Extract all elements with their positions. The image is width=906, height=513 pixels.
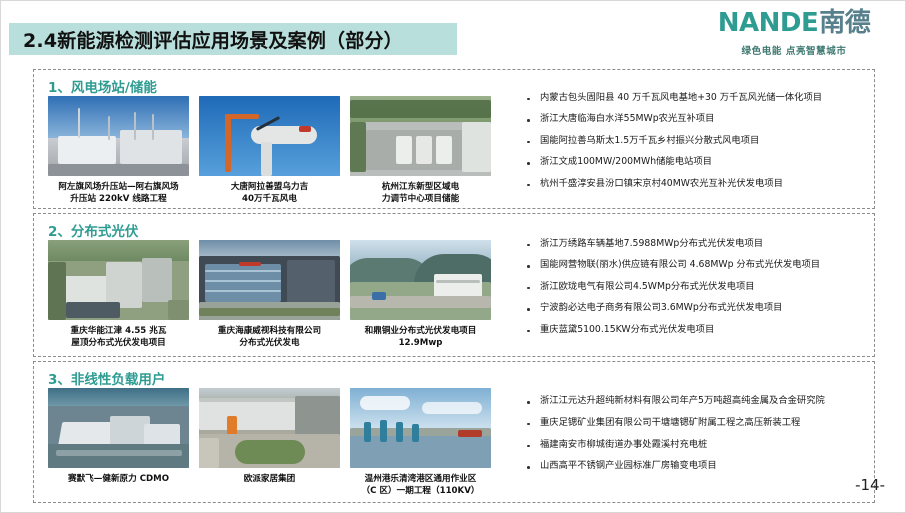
project-card[interactable]: 杭州江东新型区域电 力调节中心项目储能 [350, 96, 491, 206]
card-caption: 重庆海康威视科技有限公司 分布式光伏发电 [199, 325, 340, 350]
aerial-campus-photo [48, 388, 189, 468]
card-row: 重庆华能江津 4.55 兆瓦 屋顶分布式光伏发电项目 重庆海康威视科技有限公司 … [48, 240, 493, 350]
bullet-item: 国能网营物联(丽水)供应链有限公司 4.68MWp 分布式光伏发电项目 [524, 259, 864, 272]
bullet-item: 福建南安市柳城街道办事处霞溪村充电桩 [524, 439, 864, 452]
wind-turbine-photo [199, 96, 340, 176]
section-distributed-pv: 2、分布式光伏 重庆华能江津 4.55 兆瓦 屋顶分布式光伏发电项目 [33, 213, 875, 357]
bullet-list: 内蒙古包头固阳县 40 万千瓦风电基地+30 万千瓦风光储一体化项目 浙江大唐临… [512, 78, 864, 204]
card-caption: 杭州江东新型区域电 力调节中心项目储能 [350, 181, 491, 206]
bullet-item: 浙江欧珑电气有限公司4.5WMp分布式光伏发电项目 [524, 281, 864, 294]
project-card[interactable]: 欧派家居集团 [199, 388, 340, 498]
page-title: 2.4新能源检测评估应用场景及案例（部分） [23, 26, 403, 53]
card-caption: 赛默飞—健新原力 CDMO [48, 473, 189, 485]
section-heading: 2、分布式光伏 [48, 220, 138, 240]
aerial-energy-storage-photo [350, 96, 491, 176]
company-logo: NANDE南德 绿色电能 点亮智慧城市 [699, 10, 889, 57]
project-card[interactable]: 温州港乐清湾港区通用作业区 （C 区）一期工程（110KV） [350, 388, 491, 498]
card-caption: 欧派家居集团 [199, 473, 340, 485]
bullet-item: 杭州千盛淳安县汾口镇宋京村40MW农光互补光伏发电项目 [524, 178, 864, 191]
logo-tagline: 绿色电能 点亮智慧城市 [699, 43, 889, 57]
page-number: -14- [855, 476, 885, 494]
bullet-item: 国能阿拉善乌斯太1.5万千瓦乡村振兴分散式风电项目 [524, 135, 864, 148]
bullet-item: 山西高平不锈钢产业园标准厂房输变电项目 [524, 460, 864, 473]
bullet-item: 重庆蓝黛5100.15KW分布式光伏发电项目 [524, 324, 864, 337]
section-wind-storage: 1、风电场站/储能 阿左旗风场升压站—阿右旗风场 升压站 220kV 线路工程 [33, 69, 875, 209]
bullet-item: 浙江大唐临海白水洋55MWp农光互补项目 [524, 113, 864, 126]
office-building-photo [199, 240, 340, 320]
bullet-item: 浙江江元达升超纯新材料有限公司年产5万吨超高纯金属及合金研究院 [524, 395, 864, 408]
logo-wordmark: NANDE南德 [699, 10, 889, 36]
section-heading: 3、非线性负载用户 [48, 368, 165, 388]
bullet-list: 浙江万绣路车辆基地7.5988MWp分布式光伏发电项目 国能网营物联(丽水)供应… [512, 222, 864, 352]
project-card[interactable]: 阿左旗风场升压站—阿右旗风场 升压站 220kV 线路工程 [48, 96, 189, 206]
port-terminal-photo [350, 388, 491, 468]
card-caption: 和鼎铜业分布式光伏发电项目 12.9Mwp [350, 325, 491, 350]
section-nonlinear-load-users: 3、非线性负载用户 赛默飞—健新原力 CDMO [33, 361, 875, 503]
section-heading: 1、风电场站/储能 [48, 76, 157, 96]
project-card[interactable]: 和鼎铜业分布式光伏发电项目 12.9Mwp [350, 240, 491, 350]
card-caption: 重庆华能江津 4.55 兆瓦 屋顶分布式光伏发电项目 [48, 325, 189, 350]
bullet-list: 浙江江元达升超纯新材料有限公司年产5万吨超高纯金属及合金研究院 重庆足锶矿业集团… [512, 370, 864, 498]
card-row: 赛默飞—健新原力 CDMO 欧派家居集团 [48, 388, 493, 498]
project-card[interactable]: 重庆海康威视科技有限公司 分布式光伏发电 [199, 240, 340, 350]
bullet-item: 内蒙古包头固阳县 40 万千瓦风电基地+30 万千瓦风光储一体化项目 [524, 92, 864, 105]
project-card[interactable]: 重庆华能江津 4.55 兆瓦 屋顶分布式光伏发电项目 [48, 240, 189, 350]
card-row: 阿左旗风场升压站—阿右旗风场 升压站 220kV 线路工程 大唐阿拉善盟乌力吉 … [48, 96, 493, 206]
bullet-item: 重庆足锶矿业集团有限公司干塘塘锶矿附属工程之高压新装工程 [524, 417, 864, 430]
bullet-item: 浙江万绣路车辆基地7.5988MWp分布式光伏发电项目 [524, 238, 864, 251]
card-caption: 大唐阿拉善盟乌力吉 40万千瓦风电 [199, 181, 340, 206]
aerial-factory-photo [199, 388, 340, 468]
slide-header: 2.4新能源检测评估应用场景及案例（部分） NANDE南德 绿色电能 点亮智慧城… [1, 1, 906, 65]
card-caption: 阿左旗风场升压站—阿右旗风场 升压站 220kV 线路工程 [48, 181, 189, 206]
card-caption: 温州港乐清湾港区通用作业区 （C 区）一期工程（110KV） [350, 473, 491, 498]
substation-photo [48, 96, 189, 176]
logo-latin: NANDE [718, 8, 818, 38]
logo-chinese: 南德 [819, 8, 870, 38]
project-card[interactable]: 大唐阿拉善盟乌力吉 40万千瓦风电 [199, 96, 340, 206]
bullet-item: 宁波韵必达电子商务有限公司3.6MWp分布式光伏发电项目 [524, 302, 864, 315]
aerial-industrial-park-photo [48, 240, 189, 320]
bullet-item: 浙江文成100MW/200MWh储能电站项目 [524, 156, 864, 169]
slide: 2.4新能源检测评估应用场景及案例（部分） NANDE南德 绿色电能 点亮智慧城… [0, 0, 906, 513]
factory-mountain-photo [350, 240, 491, 320]
project-card[interactable]: 赛默飞—健新原力 CDMO [48, 388, 189, 498]
